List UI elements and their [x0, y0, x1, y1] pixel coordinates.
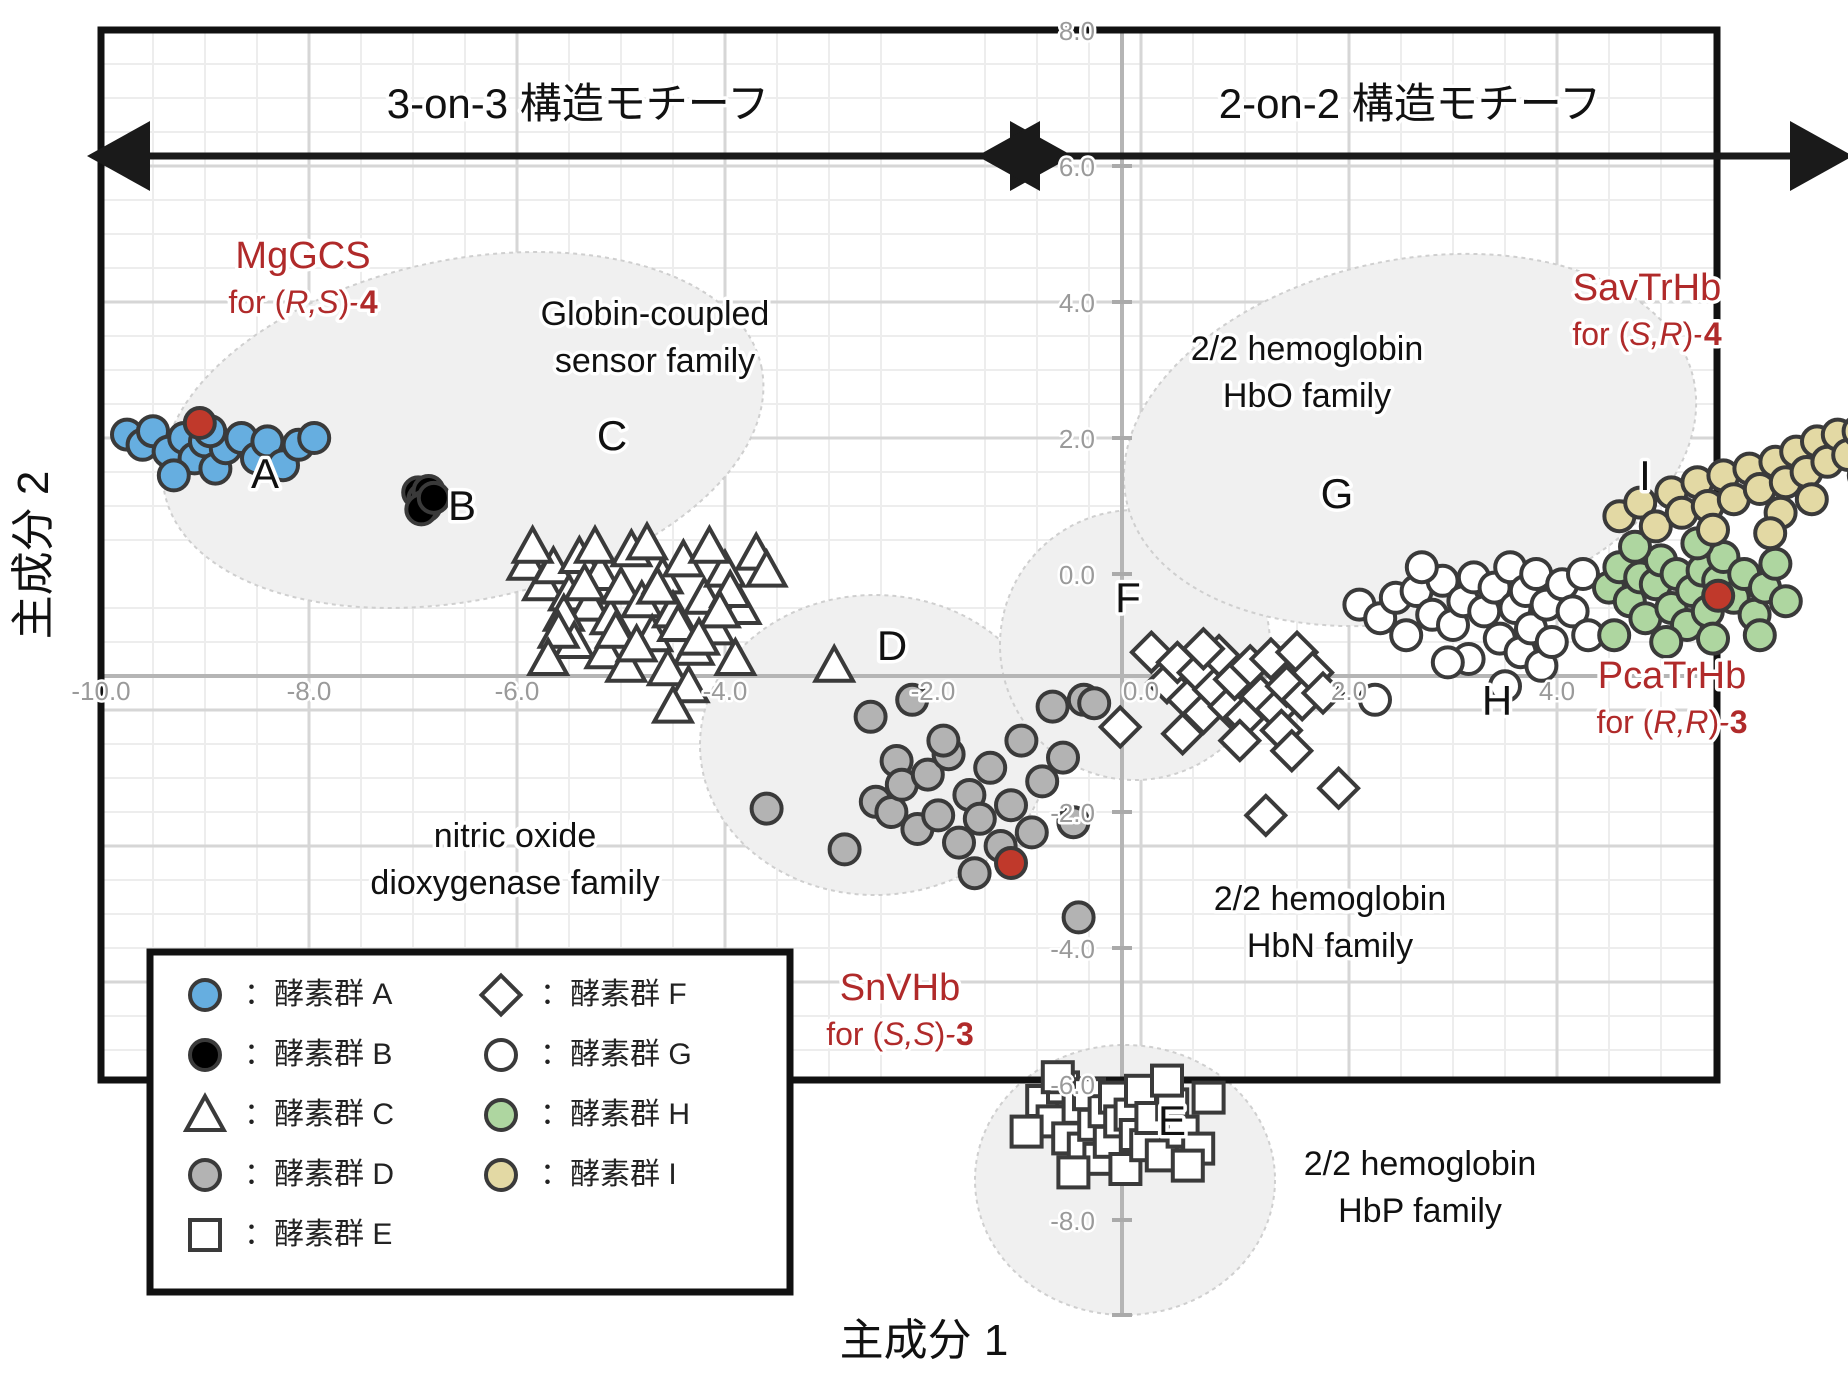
- data-point: [1194, 1083, 1224, 1113]
- data-point: [965, 804, 995, 834]
- data-point: [1651, 627, 1681, 657]
- family-gcs-line1: Globin-coupled: [541, 295, 770, 333]
- data-point: [1760, 549, 1790, 579]
- family-nod-line2: dioxygenase family: [370, 864, 659, 902]
- family-nod-line1: nitric oxide: [434, 817, 597, 855]
- legend-marker-circle-blue: [190, 980, 220, 1010]
- legend-item-H: ：酵素群 H: [540, 1098, 690, 1131]
- annotation-mggcs-name: MgGCS: [235, 235, 370, 277]
- data-point: [1599, 620, 1629, 650]
- x-axis-title: 主成分 1: [840, 1316, 1009, 1365]
- pca-scatter-figure: 3-on-3 構造モチーフ 2-on-2 構造モチーフ 8.0 6.0 4.0 …: [0, 0, 1848, 1388]
- cluster-letter-G: G: [1321, 470, 1354, 517]
- y-tick-0: 0.0: [1059, 560, 1095, 590]
- x-tick-m4: -4.0: [703, 676, 748, 706]
- legend-item-C: ：酵素群 C: [244, 1098, 394, 1131]
- data-point: [1407, 552, 1437, 582]
- annotation-mggcs-detail: for (R,S)-4: [228, 284, 378, 320]
- legend-item-G: ：酵素群 G: [540, 1038, 692, 1071]
- y-tick-2: 2.0: [1059, 424, 1095, 454]
- data-point: [1391, 620, 1421, 650]
- family-hbn-line2: HbN family: [1247, 927, 1413, 965]
- legend-item-D: ：酵素群 D: [244, 1158, 394, 1191]
- family-hbp-line1: 2/2 hemoglobin: [1304, 1145, 1537, 1183]
- y-tick-8: 8.0: [1059, 16, 1095, 46]
- cluster-letter-C: C: [597, 412, 627, 459]
- data-point: [1698, 515, 1728, 545]
- data-point: [419, 483, 449, 513]
- x-tick-m6: -6.0: [495, 676, 540, 706]
- annotation-pcatrhb-detail: for (R,R)-3: [1596, 704, 1747, 740]
- x-tick-m8: -8.0: [287, 676, 332, 706]
- motif-label-2on2: 2-on-2 構造モチーフ: [1219, 80, 1602, 127]
- data-point: [1152, 1066, 1182, 1096]
- annotation-savtrhb-detail: for (S,R)-4: [1572, 316, 1722, 352]
- annotation-snvhb-detail: for (S,S)-3: [826, 1016, 974, 1052]
- cluster-letter-D: D: [877, 622, 907, 669]
- motif-label-3on3: 3-on-3 構造モチーフ: [387, 80, 770, 127]
- data-point: [1755, 518, 1785, 548]
- data-point: [830, 834, 860, 864]
- data-point: [996, 848, 1026, 878]
- data-point: [1833, 440, 1848, 470]
- legend-marker-square-open: [190, 1220, 220, 1250]
- data-point: [1064, 902, 1094, 932]
- data-point: [1703, 581, 1733, 611]
- y-tick-4: 4.0: [1059, 288, 1095, 318]
- y-tick-m2: -2.0: [1050, 798, 1095, 828]
- annotation-pcatrhb-name: PcaTrHb: [1598, 655, 1747, 697]
- cluster-letter-E: E: [1158, 1097, 1186, 1144]
- legend-marker-circle-black: [190, 1040, 220, 1070]
- x-tick-0: 0.0: [1123, 676, 1159, 706]
- data-point: [975, 753, 1005, 783]
- legend-marker-circle-tan: [486, 1160, 516, 1190]
- data-point: [1173, 1151, 1203, 1181]
- data-point: [1797, 484, 1827, 514]
- legend-item-I: ：酵素群 I: [540, 1158, 677, 1191]
- data-point: [185, 408, 215, 438]
- data-point: [856, 702, 886, 732]
- data-point: [159, 460, 189, 490]
- x-tick-2: 2.0: [1331, 676, 1367, 706]
- data-point: [1745, 620, 1775, 650]
- x-tick-m10: -10.0: [71, 676, 130, 706]
- annotation-savtrhb-name: SavTrHb: [1573, 267, 1722, 309]
- data-point: [1017, 817, 1047, 847]
- y-tick-m8: -8.0: [1050, 1206, 1095, 1236]
- y-tick-m4: -4.0: [1050, 934, 1095, 964]
- legend-marker-circle-open: [486, 1040, 516, 1070]
- legend-item-A: ：酵素群 A: [244, 978, 392, 1011]
- cluster-letter-F: F: [1115, 574, 1141, 621]
- x-tick-4: 4.0: [1539, 676, 1575, 706]
- data-point: [996, 790, 1026, 820]
- data-point: [1006, 726, 1036, 756]
- data-point: [1079, 688, 1109, 718]
- data-point: [1698, 624, 1728, 654]
- data-point: [1771, 586, 1801, 616]
- data-point: [960, 858, 990, 888]
- family-hbp-line2: HbP family: [1338, 1192, 1502, 1230]
- y-tick-m6: -6.0: [1050, 1070, 1095, 1100]
- legend-item-E: ：酵素群 E: [244, 1218, 392, 1251]
- data-point: [1537, 627, 1567, 657]
- legend-item-F: ：酵素群 F: [540, 978, 687, 1011]
- y-tick-6: 6.0: [1059, 152, 1095, 182]
- data-point: [752, 794, 782, 824]
- legend-marker-circle-green: [486, 1100, 516, 1130]
- family-hbn-line1: 2/2 hemoglobin: [1214, 880, 1447, 918]
- legend-item-B: ：酵素群 B: [244, 1038, 392, 1071]
- cluster-letter-H: H: [1482, 677, 1512, 724]
- data-point: [1433, 647, 1463, 677]
- legend-box[interactable]: ：酵素群 A ：酵素群 B ：酵素群 C ：酵素群 D ：酵素群 E ：酵素群 …: [150, 952, 790, 1292]
- data-point: [1048, 743, 1078, 773]
- data-point: [923, 800, 953, 830]
- data-point: [1038, 692, 1068, 722]
- annotation-snvhb-name: SnVHb: [840, 967, 960, 1009]
- cluster-letter-B: B: [448, 482, 476, 529]
- data-point: [1012, 1117, 1042, 1147]
- cluster-letter-I: I: [1639, 452, 1651, 499]
- data-point: [928, 726, 958, 756]
- y-axis-title: 主成分 2: [9, 471, 58, 640]
- data-point: [299, 423, 329, 453]
- cluster-letter-A: A: [251, 450, 279, 497]
- legend-marker-circle-gray: [190, 1160, 220, 1190]
- family-hbo-line2: HbO family: [1223, 377, 1391, 415]
- data-point: [1058, 1157, 1088, 1187]
- family-hbo-line1: 2/2 hemoglobin: [1191, 330, 1424, 368]
- x-tick-m2: -2.0: [911, 676, 956, 706]
- family-gcs-line2: sensor family: [555, 342, 755, 380]
